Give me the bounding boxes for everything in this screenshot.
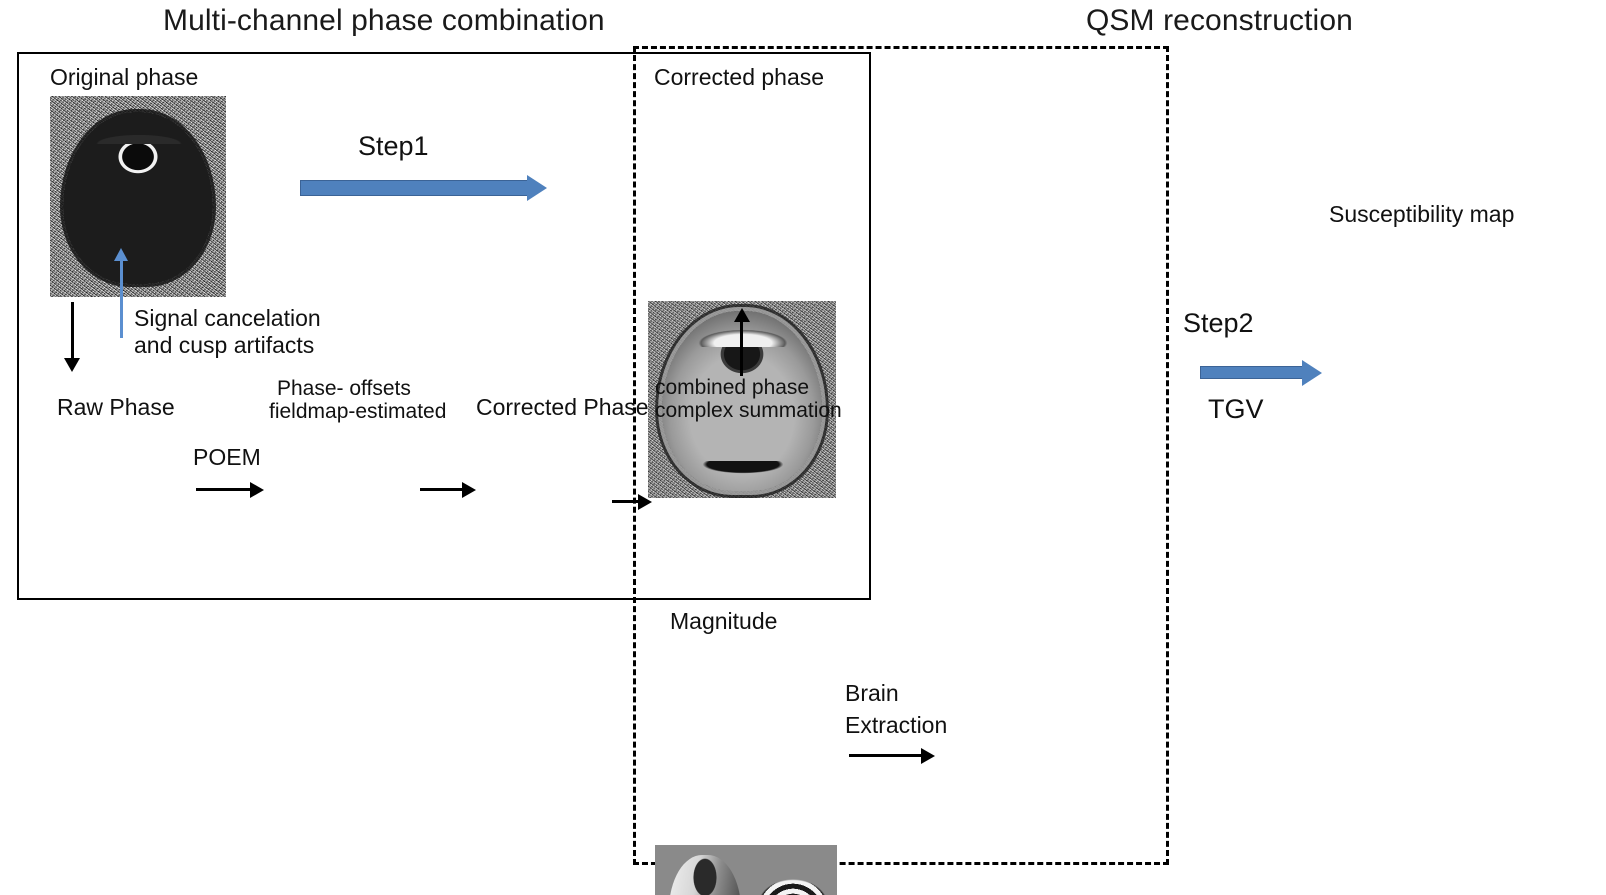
poem-arrow-head <box>250 482 264 498</box>
corrected-phase-montage-label: Corrected Phase <box>476 394 649 421</box>
step2-arrow-shaft <box>1200 366 1304 379</box>
artifact-note-line2: and cusp artifacts <box>134 332 314 359</box>
combined-phase-note-line2: complex summation <box>655 398 842 423</box>
original-phase-image <box>50 96 226 297</box>
title-left: Multi-channel phase combination <box>163 4 605 38</box>
artifact-pointer-arrow-shaft <box>120 258 123 338</box>
figure-canvas: Multi-channel phase combination QSM reco… <box>0 0 1606 895</box>
artifact-note-line1: Signal cancelation <box>134 305 321 332</box>
brain-extraction-arrow-head <box>921 748 935 764</box>
original-to-raw-arrow-head <box>64 358 80 372</box>
phase-offsets-label-line1: Phase- offsets <box>277 376 411 401</box>
susceptibility-map-label: Susceptibility map <box>1329 201 1514 228</box>
step1-arrow-shaft <box>300 180 528 196</box>
poem-arrow-shaft <box>196 488 252 491</box>
combined-phase-image <box>655 845 837 895</box>
tgv-label: TGV <box>1208 394 1264 426</box>
combined-to-corrected-arrow-shaft <box>740 320 743 376</box>
step2-label: Step2 <box>1183 308 1254 340</box>
offsets-to-corrected-arrow-head <box>462 482 476 498</box>
offsets-to-corrected-arrow-shaft <box>420 488 464 491</box>
artifact-pointer-arrow-head <box>114 248 128 261</box>
step1-arrow-head <box>527 175 547 201</box>
original-phase-label: Original phase <box>50 64 198 91</box>
brain-extraction-label-line1: Brain <box>845 680 899 707</box>
phase-offsets-label-line2: fieldmap-estimated <box>269 399 446 424</box>
corrected-to-combined-arrow-head <box>638 494 652 510</box>
brain-extraction-arrow-shaft <box>849 754 923 757</box>
brain-extraction-label-line2: Extraction <box>845 712 947 739</box>
title-right: QSM reconstruction <box>1086 4 1353 38</box>
magnitude-label: Magnitude <box>670 608 777 635</box>
original-to-raw-arrow-shaft <box>71 302 74 362</box>
poem-label: POEM <box>193 444 261 471</box>
combined-phase-note-line1: combined phase <box>655 375 809 400</box>
step1-label: Step1 <box>358 131 429 163</box>
corrected-phase-label: Corrected phase <box>654 64 824 91</box>
corrected-to-combined-arrow-shaft <box>612 500 640 503</box>
combined-to-corrected-arrow-head <box>734 308 750 322</box>
step2-arrow-head <box>1302 360 1322 386</box>
raw-phase-label: Raw Phase <box>57 394 175 421</box>
